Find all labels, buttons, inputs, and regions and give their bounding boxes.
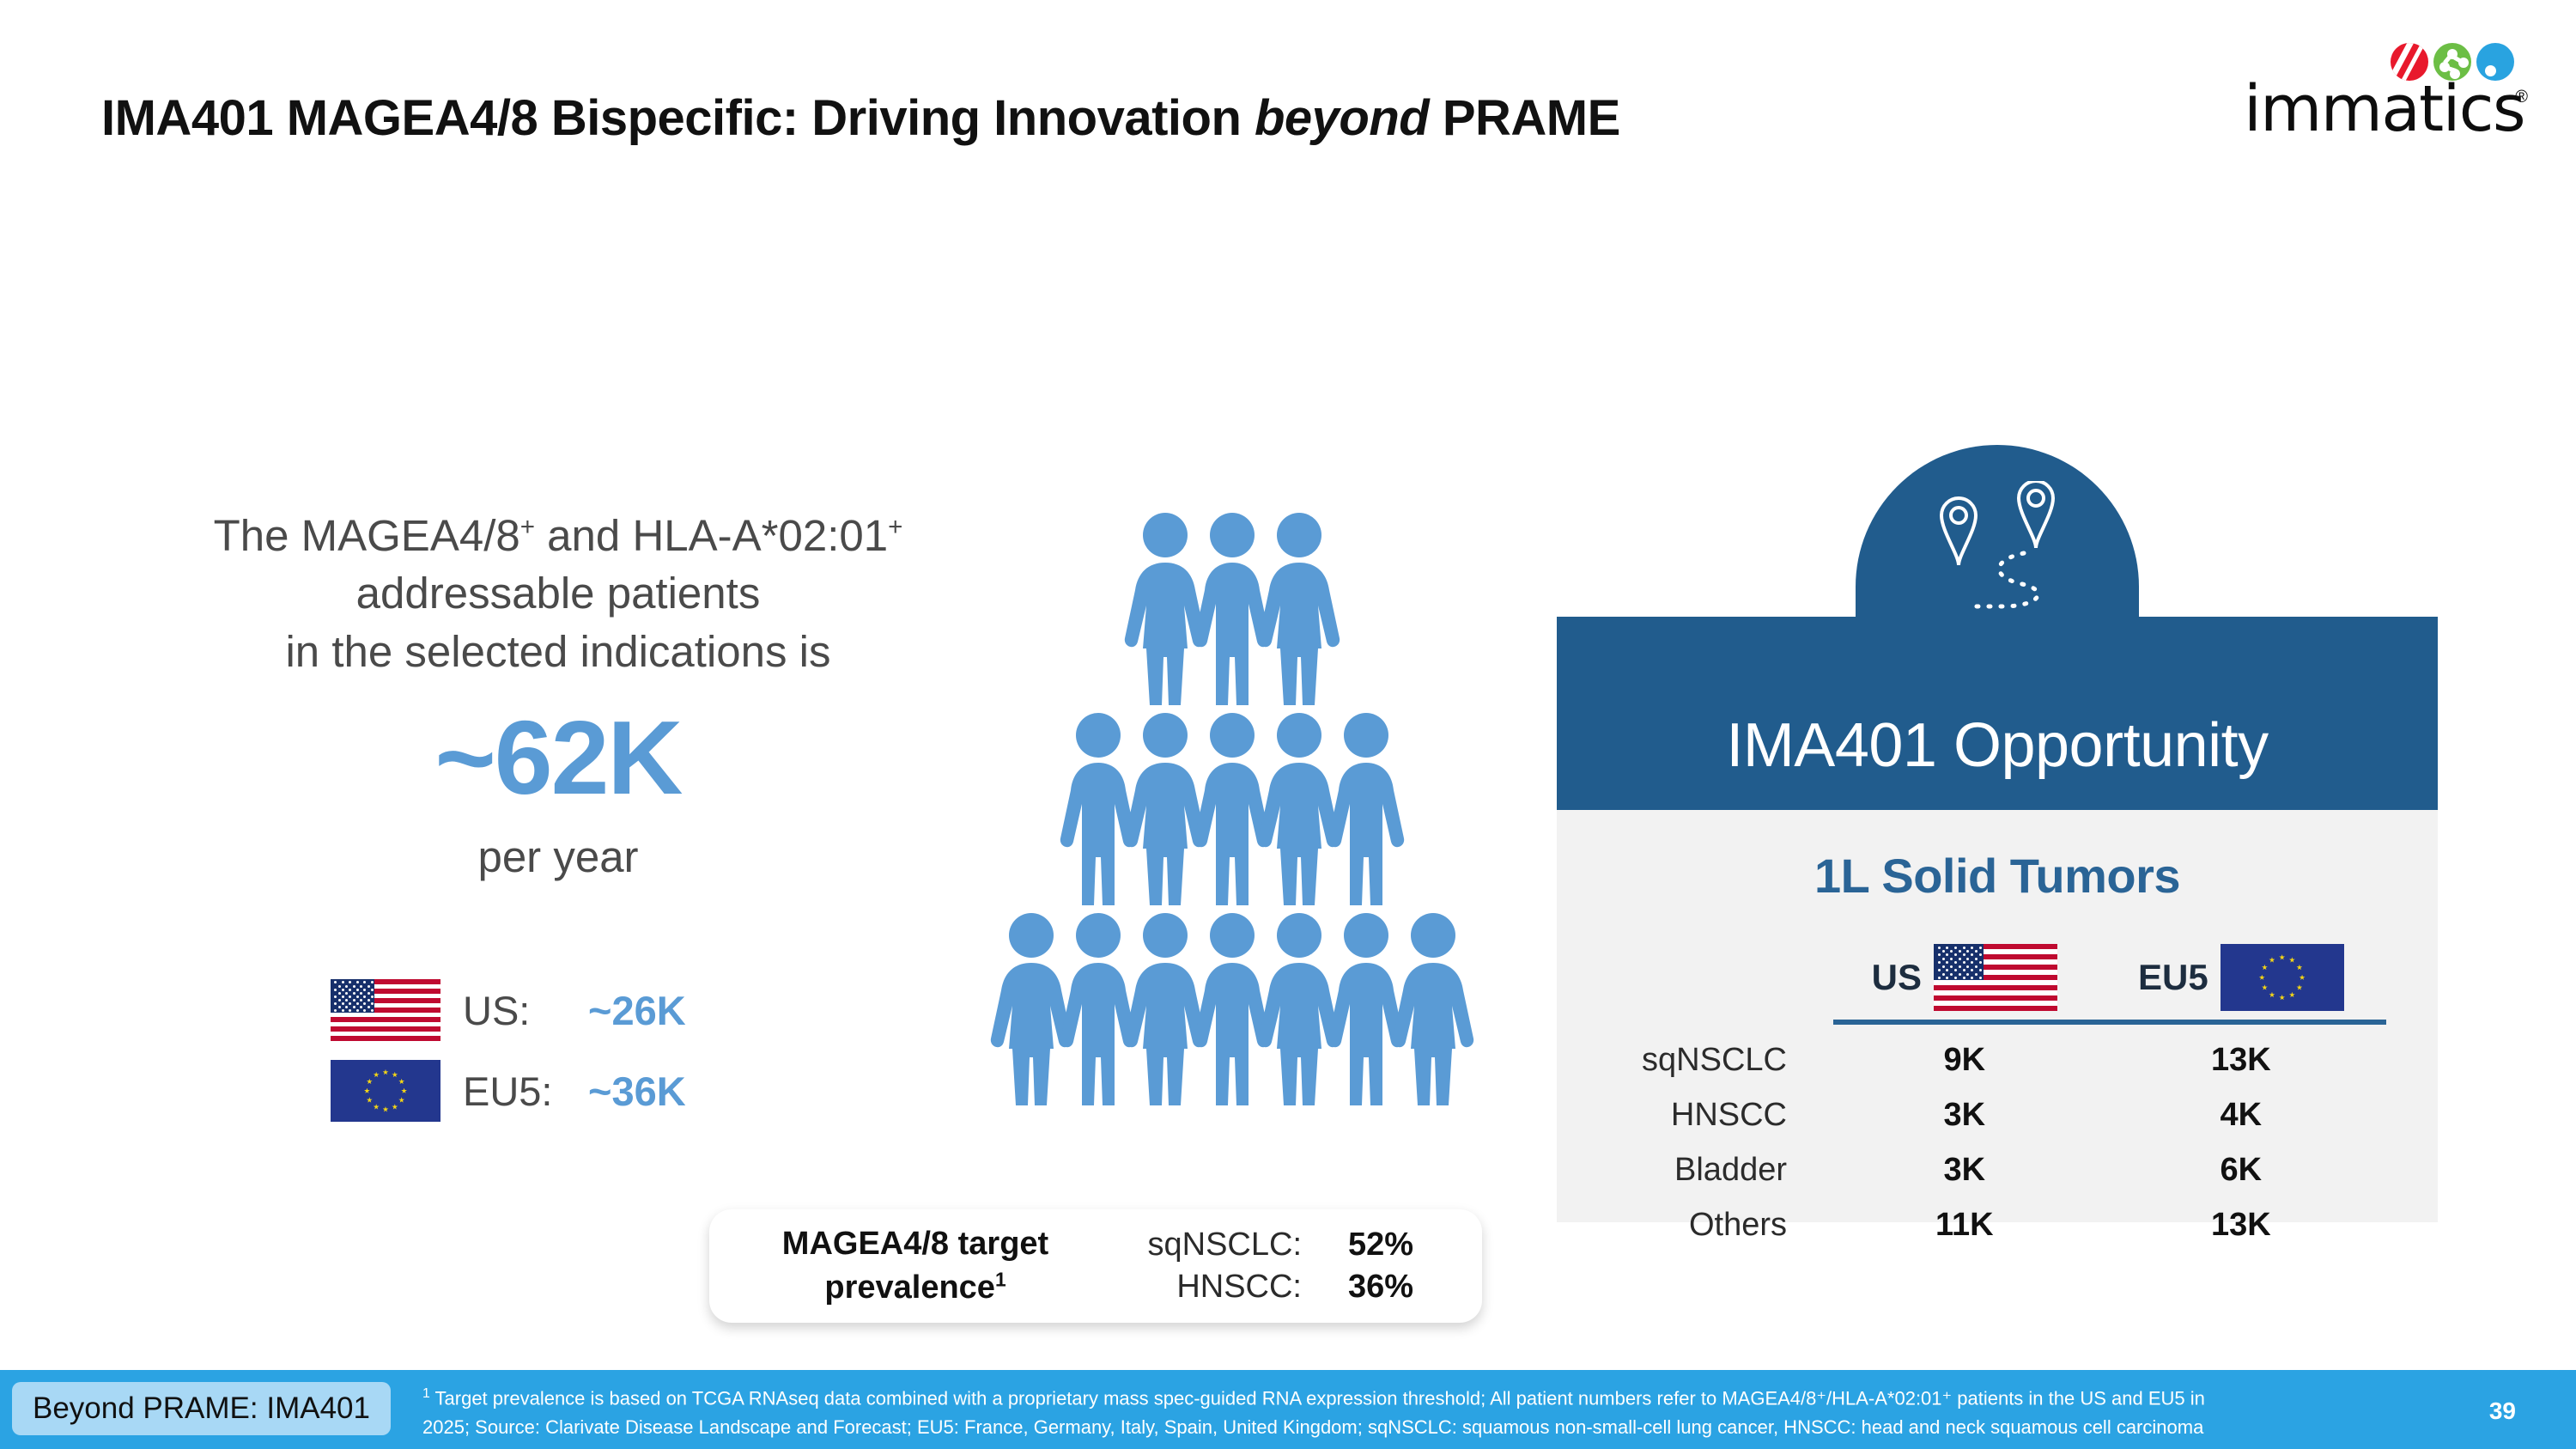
legend-row-eu5: EU5: ~36K xyxy=(331,1060,686,1122)
table-column-header-us: US xyxy=(1833,943,2096,1020)
person-female-icon xyxy=(1255,511,1344,705)
table-cell-eu5: 6K xyxy=(2096,1135,2386,1190)
statement-line-1-a: The MAGEA4/8 xyxy=(214,511,520,560)
immatics-logo: immatics ® xyxy=(2270,43,2528,155)
table-column-header-us-label: US xyxy=(1872,957,1922,998)
opportunity-panel: IMA401 Opportunity 1L Solid Tumors US xyxy=(1557,445,2438,1222)
table-cell-eu5: 13K xyxy=(2096,1025,2386,1080)
opportunity-subtitle: 1L Solid Tumors xyxy=(1608,848,2386,904)
table-row: sqNSCLC 9K 13K xyxy=(1608,1025,2386,1080)
table-row-label: HNSCC xyxy=(1608,1080,1833,1135)
table-corner-blank xyxy=(1608,943,1833,1020)
footnote-text: 1 Target prevalence is based on TCGA RNA… xyxy=(422,1384,2294,1443)
people-pictogram xyxy=(932,511,1533,1129)
statement-line-1-b: and HLA-A*02:01 xyxy=(535,511,888,560)
slide-canvas: IMA401 MAGEA4/8 Bispecific: Driving Inno… xyxy=(0,0,2576,1449)
person-figure xyxy=(1321,711,1411,910)
statement-line-1: The MAGEA4/8+ and HLA-A*02:01+ xyxy=(129,507,987,564)
table-row: Bladder 3K 6K xyxy=(1608,1135,2386,1190)
target-prevalence-card: MAGEA4/8 target prevalence1 sqNSCLC: 52%… xyxy=(709,1209,1482,1323)
target-prevalence-values: sqNSCLC: 52% HNSCC: 36% xyxy=(1121,1227,1413,1306)
target-prevalence-footnote-ref: 1 xyxy=(995,1268,1006,1290)
logo-wordmark: immatics xyxy=(2244,72,2524,146)
legend-label-eu5: EU5: xyxy=(463,1068,566,1115)
statement-line-3: in the selected indications is xyxy=(129,623,987,680)
logo-registered-mark: ® xyxy=(2515,88,2528,107)
table-row-label: Bladder xyxy=(1608,1135,1833,1190)
table-column-header-eu5-label: EU5 xyxy=(2138,957,2208,998)
page-number: 39 xyxy=(2489,1397,2516,1425)
statement-superscript-1: + xyxy=(520,513,535,541)
prevalence-name-sqnsclc: sqNSCLC: xyxy=(1121,1227,1302,1263)
table-column-header-eu5: EU5 xyxy=(2096,943,2386,1020)
table-cell-us: 11K xyxy=(1833,1190,2096,1245)
opportunity-table-body: sqNSCLC 9K 13K HNSCC 3K 4K Bladder 3K 6K xyxy=(1608,1025,2386,1245)
table-row-label: sqNSCLC xyxy=(1608,1025,1833,1080)
prevalence-pct-hnscc: 36% xyxy=(1302,1269,1413,1306)
people-row-3 xyxy=(932,911,1533,1110)
title-text-part2: PRAME xyxy=(1429,90,1620,146)
footnote-line-2: 2025; Source: Clarivate Disease Landscap… xyxy=(422,1416,2203,1438)
us-flag-icon xyxy=(1934,944,2057,1011)
table-cell-us: 9K xyxy=(1833,1025,2096,1080)
legend-label-us: US: xyxy=(463,987,566,1034)
table-row-label: Others xyxy=(1608,1190,1833,1245)
total-addressable-patients-value: ~62K xyxy=(129,703,987,813)
people-row-2 xyxy=(932,711,1533,910)
addressable-patients-statement: The MAGEA4/8+ and HLA-A*02:01+ addressab… xyxy=(129,507,987,886)
target-prevalence-label-line2: prevalence xyxy=(824,1269,995,1306)
people-row-1 xyxy=(932,511,1533,709)
statement-line-2: addressable patients xyxy=(129,564,987,622)
table-cell-eu5: 4K xyxy=(2096,1080,2386,1135)
region-legend: US: ~26K EU5: ~36K xyxy=(331,979,686,1122)
target-prevalence-label-line1: MAGEA4/8 target xyxy=(782,1226,1048,1262)
opportunity-body: 1L Solid Tumors US EU5 xyxy=(1557,810,2438,1222)
per-year-label: per year xyxy=(129,828,987,886)
eu-flag-icon xyxy=(331,1060,440,1122)
title-text-part1: IMA401 MAGEA4/8 Bispecific: Driving Inno… xyxy=(101,90,1255,146)
person-figure xyxy=(1388,911,1478,1110)
opportunity-header-title: IMA401 Opportunity xyxy=(1726,710,2268,781)
table-row: HNSCC 3K 4K xyxy=(1608,1080,2386,1135)
opportunity-table: US EU5 xyxy=(1608,943,2386,1245)
prevalence-row-hnscc: HNSCC: 36% xyxy=(1121,1269,1413,1306)
footnote-superscript: 1 xyxy=(422,1386,430,1401)
person-female-icon xyxy=(1388,911,1478,1105)
prevalence-name-hnscc: HNSCC: xyxy=(1121,1269,1302,1306)
table-cell-eu5: 13K xyxy=(2096,1190,2386,1245)
legend-value-eu5: ~36K xyxy=(588,1068,686,1115)
eu-flag-icon xyxy=(2221,944,2344,1011)
target-prevalence-label: MAGEA4/8 target prevalence1 xyxy=(752,1222,1078,1309)
statement-superscript-2: + xyxy=(888,513,902,541)
opportunity-header: IMA401 Opportunity xyxy=(1557,617,2438,810)
footer-bar: Beyond PRAME: IMA401 1 Target prevalence… xyxy=(0,1370,2576,1449)
prevalence-row-sqnsclc: sqNSCLC: 52% xyxy=(1121,1227,1413,1263)
table-cell-us: 3K xyxy=(1833,1080,2096,1135)
map-pins-route-icon xyxy=(1909,481,2086,618)
person-figure xyxy=(1255,511,1344,709)
person-male-icon xyxy=(1321,711,1411,905)
legend-value-us: ~26K xyxy=(588,987,686,1034)
table-row: Others 11K 13K xyxy=(1608,1190,2386,1245)
legend-row-us: US: ~26K xyxy=(331,979,686,1041)
table-cell-us: 3K xyxy=(1833,1135,2096,1190)
us-flag-icon xyxy=(331,979,440,1041)
page-title: IMA401 MAGEA4/8 Bispecific: Driving Inno… xyxy=(101,89,1620,147)
footnote-line-1: Target prevalence is based on TCGA RNAse… xyxy=(430,1387,2205,1409)
title-text-italic: beyond xyxy=(1255,90,1429,146)
prevalence-pct-sqnsclc: 52% xyxy=(1302,1227,1413,1263)
footer-section-tab[interactable]: Beyond PRAME: IMA401 xyxy=(12,1382,391,1435)
